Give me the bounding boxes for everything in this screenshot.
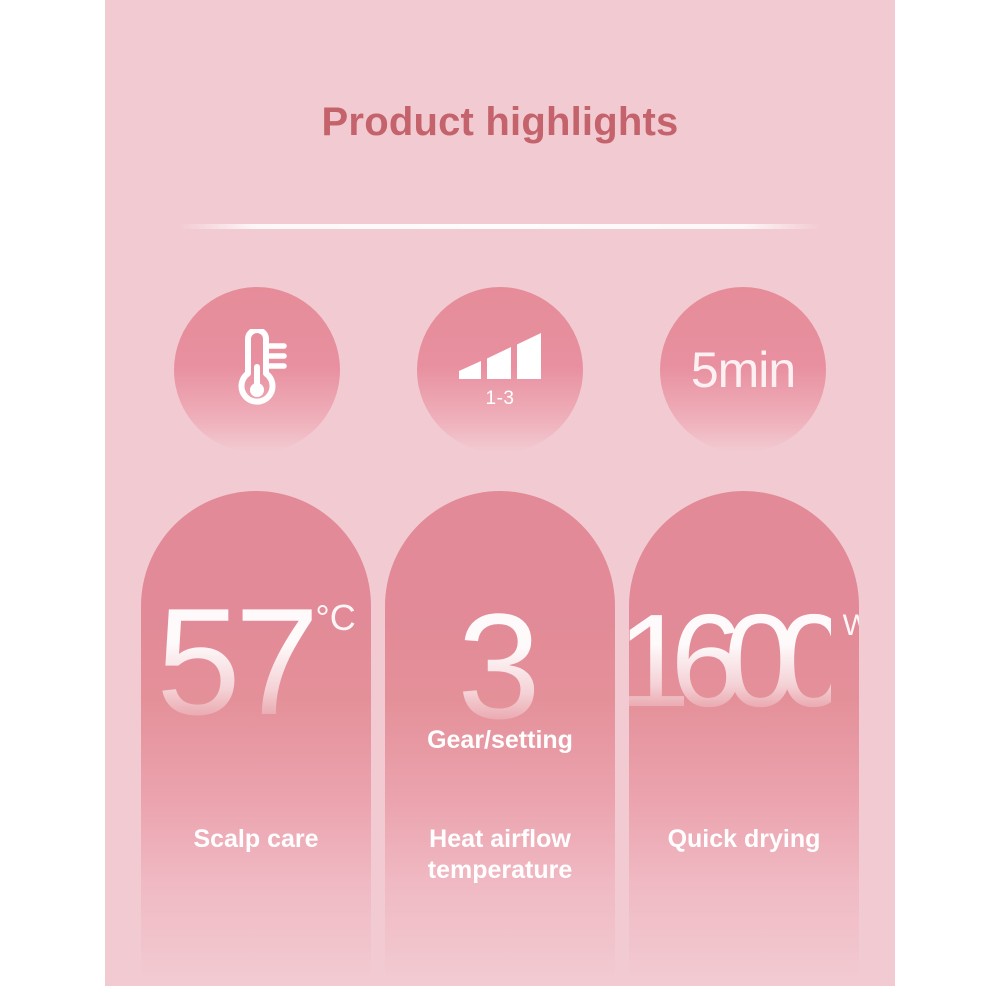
speed-range-label: 1-3 — [486, 388, 515, 410]
stat-card-quick-drying: 1600 W Quick drying — [629, 491, 859, 986]
thermometer-icon — [226, 329, 288, 411]
stat-value-group: 1600 W — [629, 595, 859, 727]
signal-bars-group: 1-3 — [457, 331, 543, 410]
stat-card-label: Scalp care — [141, 824, 371, 855]
stat-value-group: 57 °C — [141, 586, 371, 738]
stat-value: 1600 — [629, 595, 831, 727]
feature-icon-row: 1-3 5min — [105, 287, 895, 453]
stat-sub-label: Gear/setting — [385, 726, 615, 755]
stat-card-scalp-care: 57 °C Scalp care — [141, 491, 371, 986]
stat-card-label: Quick drying — [629, 824, 859, 855]
stat-value-group: 3 — [385, 591, 615, 741]
stat-value: 57 — [156, 586, 313, 738]
product-highlights-panel: Product highlights 1-3 — [105, 0, 895, 986]
feature-circle-temperature — [174, 287, 340, 453]
stat-value: 3 — [457, 591, 540, 741]
stat-unit: °C — [315, 600, 355, 636]
stat-unit: W — [843, 611, 859, 641]
stat-card-row: 57 °C Scalp care 3 Gear/setting Heat air… — [105, 491, 895, 986]
feature-circle-time: 5min — [660, 287, 826, 453]
stat-card-label: Heat airflow temperature — [385, 824, 615, 887]
page-title: Product highlights — [105, 100, 895, 145]
feature-circle-speed: 1-3 — [417, 287, 583, 453]
signal-bars-icon — [457, 331, 543, 381]
stat-card-heat-airflow: 3 Gear/setting Heat airflow temperature — [385, 491, 615, 986]
section-divider — [180, 224, 820, 229]
time-label: 5min — [691, 345, 795, 395]
